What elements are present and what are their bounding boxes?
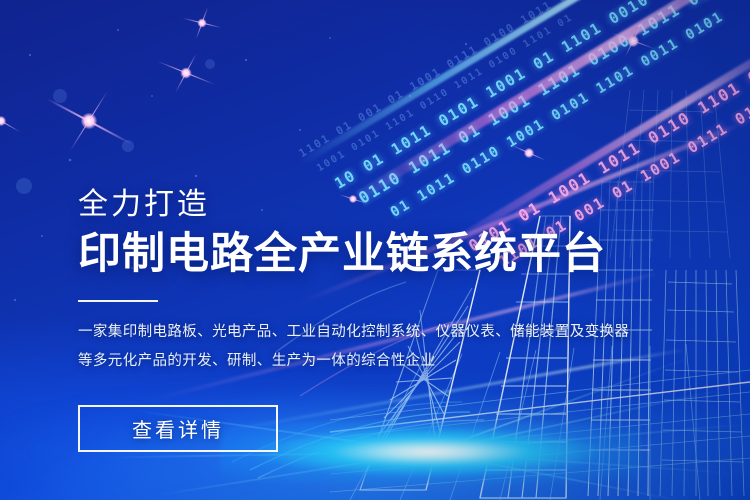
binary-data-stream-icon: 01 1011 0110 1001 0101 1101 0011 0101 <box>388 0 750 221</box>
light-ray-icon <box>430 389 724 453</box>
light-flare-icon <box>220 422 640 482</box>
light-ray-icon <box>100 451 430 459</box>
star-sparkle-icon <box>88 120 90 122</box>
hero-headline: 印制电路全产业链系统平台 <box>78 232 678 278</box>
star-sparkle-icon <box>632 40 634 42</box>
hero-description-line: 等多元化产品的开发、研制、生产为一体的综合性企业 <box>78 347 678 376</box>
star-sparkle-icon <box>201 22 203 24</box>
light-ray-icon <box>430 423 749 453</box>
binary-data-stream-icon: 1101 01 001 01 1001 0111 0100 1011 01 <box>297 0 749 160</box>
light-streak-icon <box>298 0 750 167</box>
light-ray-icon <box>430 451 686 500</box>
hero-eyebrow: 全力打造 <box>78 190 678 220</box>
hero-divider <box>78 300 158 302</box>
star-sparkle-icon <box>0 120 2 122</box>
binary-data-stream-icon: 1001 0101 1101 0110 1011 0100 1101 01 <box>315 0 750 174</box>
hero-description: 一家集印制电路板、光电产品、工业自动化控制系统、仪器仪表、储能装置及变换器 等多… <box>78 318 678 376</box>
binary-data-stream-icon: 0110 1011 01 1001 1101 0100 1011 0110 <box>355 0 750 208</box>
light-ray-icon <box>430 451 729 474</box>
hero-banner: 1101 01 001 01 1001 0111 0100 1011 01 10… <box>0 0 750 500</box>
view-details-button[interactable]: 查看详情 <box>78 405 278 452</box>
star-sparkle-icon <box>528 152 530 154</box>
binary-data-stream-icon: 10 01 1011 0101 1001 01 1101 0010 1101 <box>331 0 743 193</box>
hero-content: 全力打造 印制电路全产业链系统平台 一家集印制电路板、光电产品、工业自动化控制系… <box>78 190 678 376</box>
hero-description-line: 一家集印制电路板、光电产品、工业自动化控制系统、仪器仪表、储能装置及变换器 <box>78 318 678 347</box>
star-sparkle-icon <box>185 72 187 74</box>
light-ray-icon <box>153 451 430 497</box>
light-streak-icon <box>347 0 750 205</box>
